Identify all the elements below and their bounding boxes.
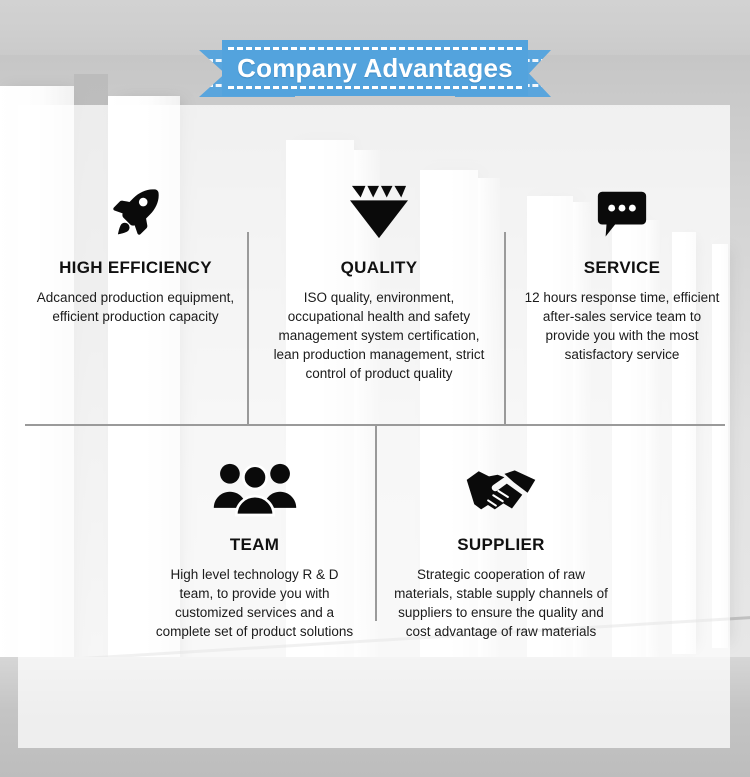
feature-description: Strategic cooperation of raw materials, … — [392, 565, 610, 641]
vertical-divider-right — [504, 232, 506, 425]
feature-card-high-efficiency: HIGH EFFICIENCY Adcanced production equi… — [28, 168, 243, 326]
feature-description: Adcanced production equipment, efficient… — [28, 288, 243, 326]
feature-grid: HIGH EFFICIENCY Adcanced production equi… — [0, 0, 750, 777]
ribbon-main-band: Company Advantages — [222, 40, 528, 96]
feature-title: QUALITY — [268, 258, 490, 278]
feature-title: SUPPLIER — [392, 535, 610, 555]
ribbon-dash-bottom — [228, 86, 522, 89]
feature-title: HIGH EFFICIENCY — [28, 258, 243, 278]
feature-title: TEAM — [152, 535, 357, 555]
vertical-divider-left — [247, 232, 249, 425]
rocket-icon — [28, 168, 243, 240]
feature-card-team: TEAM High level technology R & D team, t… — [152, 445, 357, 641]
feature-description: ISO quality, environment, occupational h… — [268, 288, 490, 383]
advantages-infographic: Company Advantages HIGH EFFICIENCY Adcan… — [0, 0, 750, 777]
banner-ribbon: Company Advantages — [0, 18, 750, 100]
ribbon-dash-top — [228, 47, 522, 50]
handshake-icon — [392, 445, 610, 517]
feature-description: 12 hours response time, efficient after-… — [522, 288, 722, 364]
feature-card-service: SERVICE 12 hours response time, efficien… — [522, 168, 722, 364]
diamond-icon — [268, 168, 490, 240]
feature-title: SERVICE — [522, 258, 722, 278]
people-group-icon — [152, 445, 357, 517]
feature-card-supplier: SUPPLIER Strategic cooperation of raw ma… — [392, 445, 610, 641]
vertical-divider-bottom — [375, 426, 377, 621]
banner-title: Company Advantages — [237, 53, 513, 84]
chat-bubble-icon — [522, 168, 722, 240]
feature-description: High level technology R & D team, to pro… — [152, 565, 357, 641]
feature-card-quality: QUALITY ISO quality, environment, occupa… — [268, 168, 490, 383]
